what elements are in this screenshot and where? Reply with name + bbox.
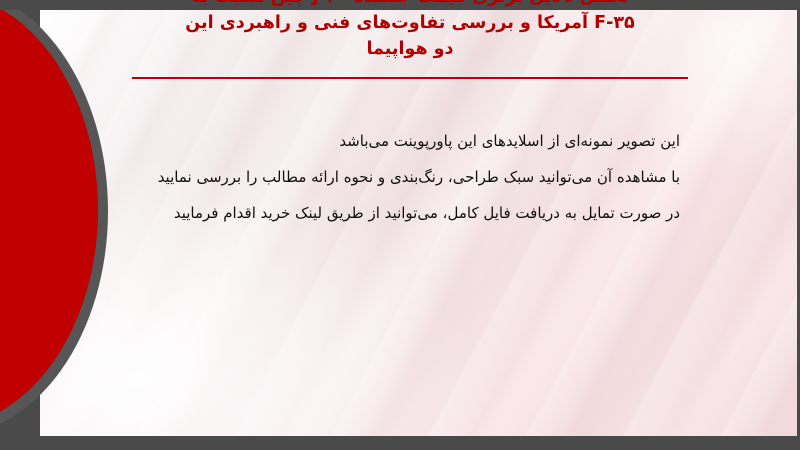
slide-content: تحلیل دلایل برتری قیمت جنگنده ۲۰-J چین ن… xyxy=(0,0,800,450)
title-line-3: دو هواپیما xyxy=(120,36,700,62)
body-line-1: این تصویر نمونه‌ای از اسلایدهای این پاور… xyxy=(80,123,680,159)
body-line-2: با مشاهده آن می‌توانید سبک طراحی، رنگ‌بن… xyxy=(80,159,680,195)
title-underline-rule xyxy=(132,77,688,79)
title-line-1: تحلیل دلایل برتری قیمت جنگنده ۲۰-J چین ن… xyxy=(120,0,700,10)
title-line-2: ۳۵-F آمریکا و بررسی تفاوت‌های فنی و راهب… xyxy=(120,10,700,36)
body-line-3: در صورت تمایل به دریافت فایل کامل، می‌تو… xyxy=(80,195,680,231)
slide-title: تحلیل دلایل برتری قیمت جنگنده ۲۰-J چین ن… xyxy=(120,0,700,62)
slide-body-text: این تصویر نمونه‌ای از اسلایدهای این پاور… xyxy=(80,123,680,231)
presentation-slide: تحلیل دلایل برتری قیمت جنگنده ۲۰-J چین ن… xyxy=(0,0,800,450)
